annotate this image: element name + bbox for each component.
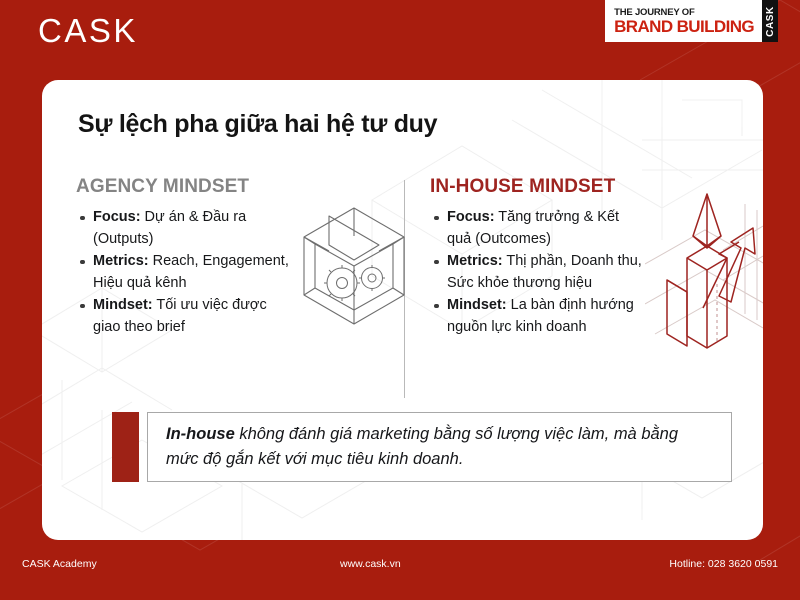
brand-wordmark: CASK [38,12,138,50]
logo-text-block: THE JOURNEY OF BRAND BUILDING [605,0,762,42]
column-heading-inhouse: IN-HOUSE MINDSET [430,176,731,198]
quote-callout: In-house không đánh giá marketing bằng s… [112,412,732,482]
logo-vertical-tab: CASK [762,0,778,42]
mindset-comparison: AGENCY MINDSET Focus: Dự án & Đầu ra (Ou… [76,176,731,406]
quote-lead: In-house [166,425,235,443]
bullet-list-inhouse: Focus: Tăng trưởng & Kết quả (Outcomes) … [430,207,731,338]
page-title: Sự lệch pha giữa hai hệ tư duy [78,110,729,139]
bullet-label: Metrics: [93,253,149,269]
list-item: Mindset: Tối ưu việc được giao theo brie… [76,295,291,338]
list-item: Focus: Tăng trưởng & Kết quả (Outcomes) [430,207,645,250]
bullet-label: Focus: [93,209,141,225]
bullet-label: Metrics: [447,253,503,269]
footer-hotline: Hotline: 028 3620 0591 [669,558,778,570]
logo-line-2: BRAND BUILDING [614,18,754,36]
slide-root: CASK THE JOURNEY OF BRAND BUILDING CASK [0,0,800,600]
bullet-label: Mindset: [93,297,153,313]
bullet-label: Focus: [447,209,495,225]
quote-rest: không đánh giá marketing bằng số lượng v… [166,425,678,468]
column-agency-mindset: AGENCY MINDSET Focus: Dự án & Đầu ra (Ou… [76,176,404,406]
content-card: Sự lệch pha giữa hai hệ tư duy AGENCY MI… [42,80,763,540]
column-inhouse-mindset: IN-HOUSE MINDSET Focus: Tăng trưởng & Kế… [404,176,731,406]
quote-box: In-house không đánh giá marketing bằng s… [147,412,732,482]
logo-line-1: THE JOURNEY OF [614,7,754,18]
footer-academy-label: CASK Academy [22,558,97,570]
list-item: Metrics: Reach, Engagement, Hiệu quả kên… [76,251,291,294]
logo-vertical-tab-label: CASK [765,6,776,37]
quote-text: In-house không đánh giá marketing bằng s… [166,422,713,472]
list-item: Focus: Dự án & Đầu ra (Outputs) [76,207,291,250]
quote-accent-bar [112,412,139,482]
list-item: Metrics: Thị phần, Doanh thu, Sức khỏe t… [430,251,645,294]
bullet-label: Mindset: [447,297,507,313]
bullet-list-agency: Focus: Dự án & Đầu ra (Outputs) Metrics:… [76,207,394,338]
header-bar: CASK THE JOURNEY OF BRAND BUILDING CASK [0,0,800,62]
footer-website-link[interactable]: www.cask.vn [340,558,401,570]
footer-bar: CASK Academy www.cask.vn Hotline: 028 36… [0,542,800,600]
column-heading-agency: AGENCY MINDSET [76,176,394,198]
journey-of-brand-building-logo: THE JOURNEY OF BRAND BUILDING CASK [605,0,778,42]
list-item: Mindset: La bàn định hướng nguồn lực kin… [430,295,645,338]
